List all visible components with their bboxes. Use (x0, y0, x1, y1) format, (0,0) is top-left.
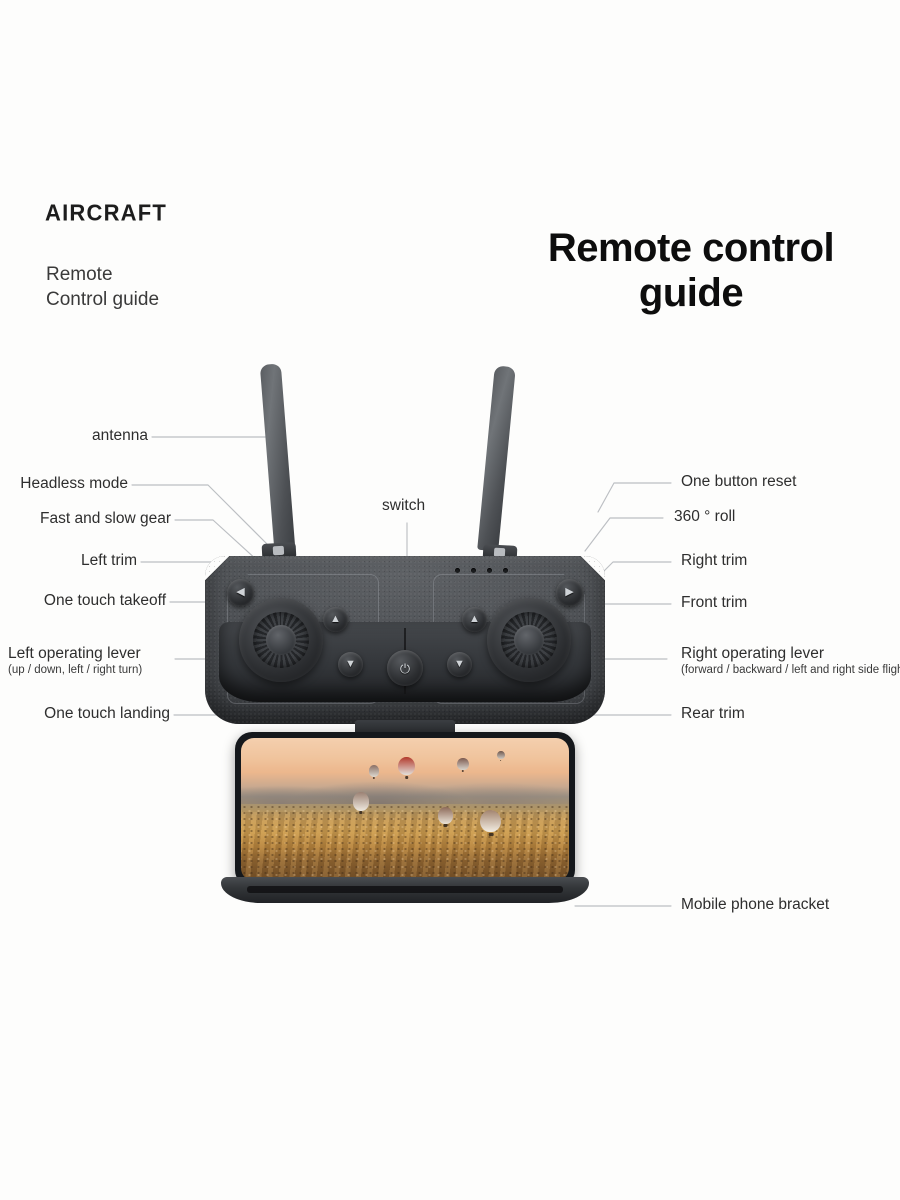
phone-screen (241, 738, 569, 881)
callout-rear-trim-label: Rear trim (681, 705, 745, 722)
up-arrow-icon: ▲ (469, 614, 480, 625)
subtitle-line-2: Control guide (46, 289, 159, 310)
mobile-phone-bracket (221, 877, 589, 903)
leader-one-button-reset (598, 483, 671, 512)
one-button-reset-button[interactable]: ▶ (556, 579, 583, 606)
callout-360-roll: 360 ° roll (674, 508, 735, 526)
led-indicator-row (455, 568, 508, 573)
callout-360-roll-label: 360 ° roll (674, 508, 735, 525)
mobile-phone (235, 732, 575, 887)
callout-right-operating-lever-label: Right operating lever (681, 645, 824, 662)
subtitle-block: Remote Control guide (46, 262, 159, 312)
power-icon: ⏻ (400, 662, 410, 675)
right-arrow-icon: ▶ (565, 587, 573, 598)
callout-left-trim: Left trim (0, 552, 137, 570)
remote-controller-illustration: ◀ ▶ ▲ ▲ ▼ ▼ ⏻ (205, 360, 605, 780)
led-indicator-1 (455, 568, 460, 573)
callout-one-touch-takeoff: One touch takeoff (0, 592, 166, 610)
antenna-right (477, 365, 516, 551)
infographic-canvas: AIRCRAFT Remote Control guide Remote con… (0, 0, 900, 1200)
hot-air-balloon-6 (438, 807, 453, 824)
callout-mobile-phone-bracket: Mobile phone bracket (681, 896, 829, 914)
callout-right-operating-lever-sub: (forward / backward / left and right sid… (681, 664, 900, 676)
hot-air-balloon-1 (398, 757, 414, 776)
led-indicator-2 (471, 568, 476, 573)
callout-front-trim-label: Front trim (681, 594, 747, 611)
right-trim-button[interactable]: ▲ (462, 607, 487, 632)
brand-wordmark: AIRCRAFT (45, 199, 167, 226)
right-joystick-cap[interactable] (514, 625, 544, 655)
callout-headless-mode: Headless mode (0, 475, 128, 493)
callout-mobile-phone-bracket-label: Mobile phone bracket (681, 896, 829, 913)
rear-trim-button[interactable]: ▼ (447, 652, 472, 677)
antenna-left (260, 363, 295, 549)
callout-right-operating-lever: Right operating lever (forward / backwar… (681, 645, 900, 676)
left-joystick-cap[interactable] (266, 625, 296, 655)
subtitle-line-1: Remote (46, 264, 113, 285)
led-indicator-3 (487, 568, 492, 573)
callout-left-trim-label: Left trim (81, 552, 137, 569)
callout-left-operating-lever-sub: (up / down, left / right turn) (8, 664, 142, 676)
headless-mode-button[interactable]: ◀ (227, 579, 254, 606)
power-switch-button[interactable]: ⏻ (387, 650, 423, 686)
hot-air-balloon-2 (369, 765, 379, 776)
callout-headless-mode-label: Headless mode (20, 475, 128, 492)
callout-fast-and-slow-gear-label: Fast and slow gear (40, 510, 171, 527)
up-arrow-icon: ▲ (330, 614, 341, 625)
hot-air-balloon-5 (353, 792, 369, 811)
callout-left-operating-lever-label: Left operating lever (8, 645, 141, 662)
callout-one-touch-landing-label: One touch landing (44, 705, 170, 722)
callout-antenna-label: antenna (92, 427, 148, 444)
page-title: Remote control guide (505, 226, 877, 316)
landscape-hills (241, 778, 569, 804)
callout-right-trim: Right trim (681, 552, 747, 570)
callout-one-button-reset-label: One button reset (681, 473, 796, 490)
callout-left-operating-lever: Left operating lever (up / down, left / … (8, 645, 142, 676)
down-arrow-icon: ▼ (454, 659, 465, 670)
left-arrow-icon: ◀ (236, 587, 244, 598)
down-arrow-icon: ▼ (345, 659, 356, 670)
led-indicator-4 (503, 568, 508, 573)
hot-air-balloon-3 (457, 758, 468, 770)
callout-one-touch-landing: One touch landing (0, 705, 170, 723)
callout-one-touch-takeoff-label: One touch takeoff (44, 592, 166, 609)
callout-rear-trim: Rear trim (681, 705, 745, 723)
callout-antenna: antenna (0, 427, 148, 445)
callout-front-trim: Front trim (681, 594, 747, 612)
hot-air-balloon-4 (497, 751, 505, 760)
left-trim-button[interactable]: ▲ (323, 607, 348, 632)
callout-one-button-reset: One button reset (681, 473, 796, 491)
callout-fast-and-slow-gear: Fast and slow gear (0, 510, 171, 528)
one-touch-landing-button[interactable]: ▼ (338, 652, 363, 677)
callout-right-trim-label: Right trim (681, 552, 747, 569)
landscape-ground-texture (241, 804, 569, 881)
